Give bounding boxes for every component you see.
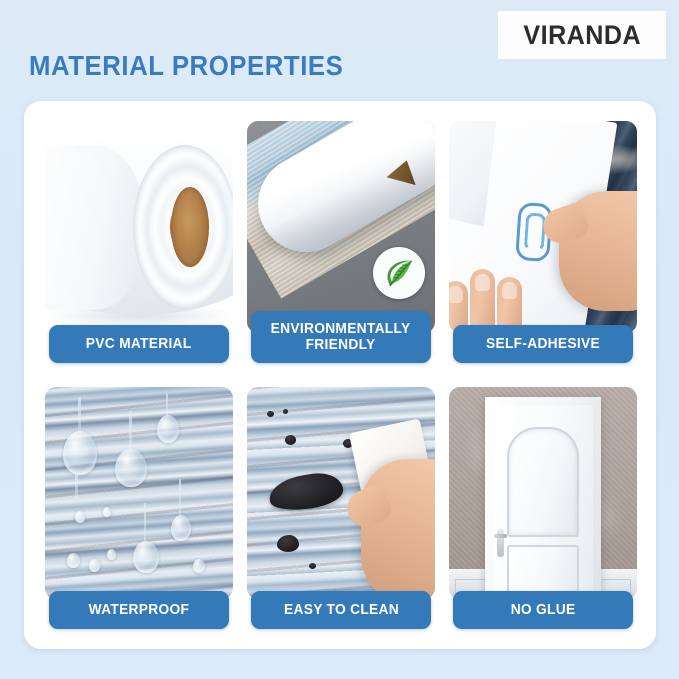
feature-label-self-adhesive: SELF-ADHESIVE bbox=[453, 325, 633, 363]
no-glue-door-photo bbox=[449, 387, 637, 599]
feature-label-text: SELF-ADHESIVE bbox=[480, 333, 605, 356]
feature-label-text: ENVIRONMENTALLYFRIENDLY bbox=[265, 318, 416, 357]
feature-card-pvc-material[interactable]: PVC MATERIAL bbox=[45, 121, 233, 363]
door-handle-icon bbox=[497, 529, 504, 557]
left-hand bbox=[449, 259, 529, 333]
feature-label-text: NO GLUE bbox=[505, 599, 581, 622]
brand-logo-box: VIRANDA bbox=[498, 11, 666, 59]
waterproof-photo bbox=[45, 387, 233, 599]
feature-card-environmentally-friendly[interactable]: ENVIRONMENTALLYFRIENDLY bbox=[247, 121, 435, 363]
pvc-roll-photo bbox=[45, 121, 233, 333]
feature-grid: PVC MATERIAL bbox=[45, 121, 637, 629]
infographic-page: VIRANDA MATERIAL PROPERTIES PVC MATERIAL bbox=[0, 0, 679, 679]
self-adhesive-photo bbox=[449, 121, 637, 333]
feature-label-easy-to-clean: EASY TO CLEAN bbox=[251, 591, 431, 629]
leaf-icon bbox=[382, 256, 416, 290]
feature-label-no-glue: NO GLUE bbox=[453, 591, 633, 629]
brand-name: VIRANDA bbox=[523, 20, 641, 51]
feature-card-easy-to-clean[interactable]: EASY TO CLEAN bbox=[247, 387, 435, 629]
feature-label-pvc-material: PVC MATERIAL bbox=[49, 325, 229, 363]
feature-label-waterproof: WATERPROOF bbox=[49, 591, 229, 629]
feature-card-waterproof[interactable]: WATERPROOF bbox=[45, 387, 233, 629]
feature-label-environmentally-friendly: ENVIRONMENTALLYFRIENDLY bbox=[251, 311, 431, 363]
right-hand bbox=[559, 191, 637, 311]
eco-leaf-badge bbox=[373, 247, 425, 299]
door bbox=[485, 397, 601, 593]
feature-label-text: EASY TO CLEAN bbox=[278, 599, 404, 622]
feature-label-text: WATERPROOF bbox=[83, 599, 195, 622]
easy-to-clean-photo bbox=[247, 387, 435, 599]
eco-roll-photo bbox=[247, 121, 435, 333]
feature-label-text: PVC MATERIAL bbox=[80, 333, 197, 356]
feature-card-self-adhesive[interactable]: SELF-ADHESIVE bbox=[449, 121, 637, 363]
hand bbox=[361, 459, 435, 599]
page-title: MATERIAL PROPERTIES bbox=[29, 50, 343, 82]
feature-card-no-glue[interactable]: NO GLUE bbox=[449, 387, 637, 629]
